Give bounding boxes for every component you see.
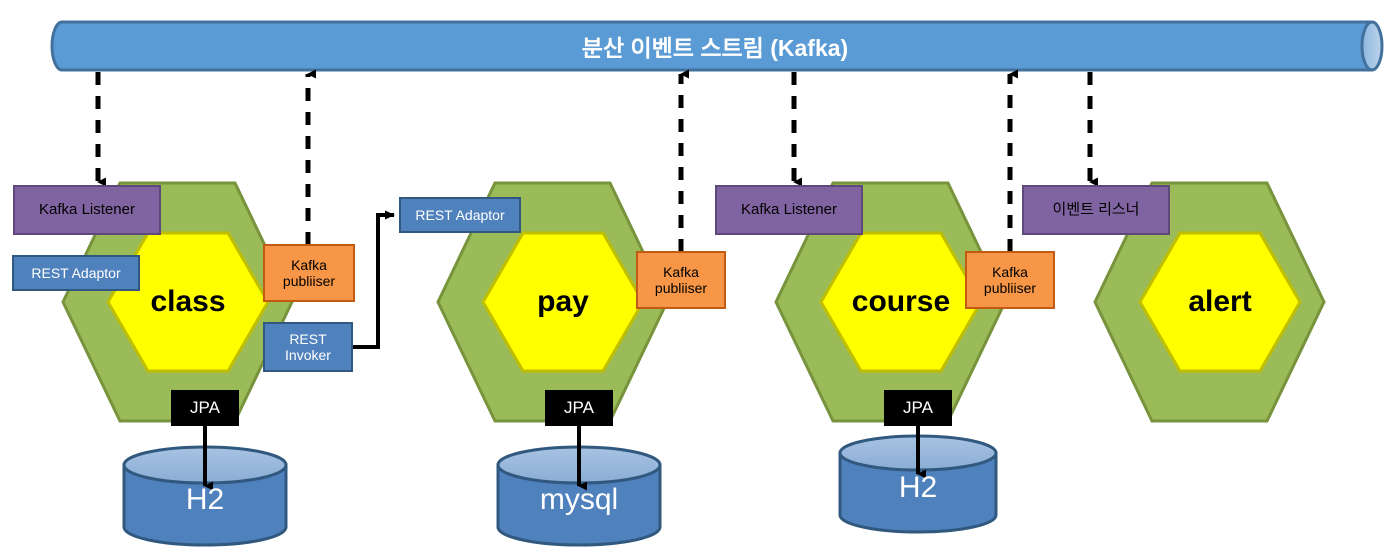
event-bus-shape <box>52 22 1382 70</box>
course-kafka-listener-box[interactable]: Kafka Listener <box>715 185 863 235</box>
class-rest-adaptor-box[interactable]: REST Adaptor <box>12 255 140 291</box>
class-kafka-listener-box[interactable]: Kafka Listener <box>13 185 161 235</box>
pay-kafka-publisher-box[interactable]: Kafka publiiser <box>636 251 726 309</box>
class-kafka-publisher-box[interactable]: Kafka publiiser <box>263 244 355 302</box>
alert-event-listener-box[interactable]: 이벤트 리스너 <box>1022 185 1170 235</box>
architecture-diagram: 분산 이벤트 스트림 (Kafka) Kafka Listener REST A… <box>0 0 1393 557</box>
class-rest-invoker-box[interactable]: REST Invoker <box>263 322 353 372</box>
course-jpa-box: JPA <box>884 390 952 426</box>
pay-jpa-box: JPA <box>545 390 613 426</box>
course-kafka-publisher-box[interactable]: Kafka publiiser <box>965 251 1055 309</box>
flow-class-invoker-to-pay-adaptor <box>353 215 394 347</box>
pay-rest-adaptor-box[interactable]: REST Adaptor <box>399 197 521 233</box>
class-jpa-box: JPA <box>171 390 239 426</box>
